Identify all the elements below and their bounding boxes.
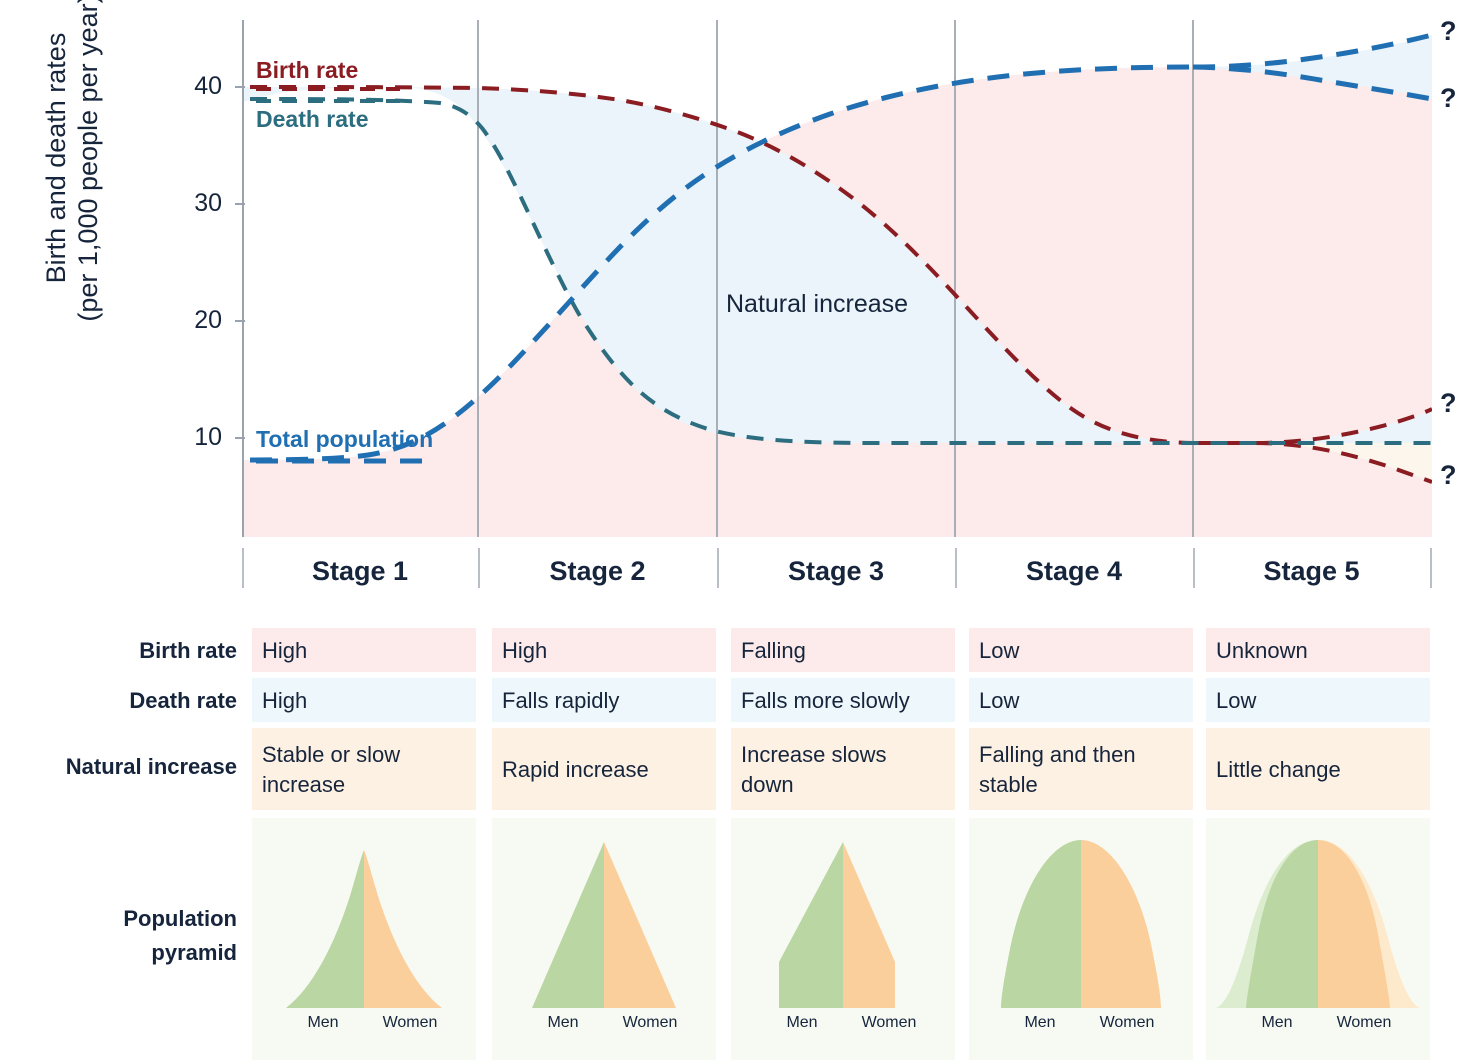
row-label-birth-rate: Birth rate — [0, 634, 237, 668]
cell-natural-increase-stage1: Stable or slow increase — [252, 728, 476, 810]
y-tick-label-30: 30 — [162, 189, 222, 218]
cell-death-rate-stage1: High — [252, 678, 476, 722]
row-label-death-rate: Death rate — [0, 684, 237, 718]
pyramid-men-stage3 — [779, 842, 843, 1008]
cell-natural-increase-stage2: Rapid increase — [492, 728, 716, 810]
y-tick-label-10: 10 — [162, 423, 222, 452]
pyramid-men-label-stage1: Men — [282, 1014, 364, 1032]
cell-natural-increase-stage3: Increase slows down — [731, 728, 955, 810]
question-mark-population-upper: ? — [1440, 16, 1457, 47]
cell-death-rate-stage4: Low — [969, 678, 1193, 722]
cell-birth-rate-stage5: Unknown — [1206, 628, 1430, 672]
pyramid-men-label-stage4: Men — [999, 1014, 1081, 1032]
y-tick-label-40: 40 — [162, 72, 222, 101]
pyramid-cell-stage3: Men Women — [731, 818, 955, 1060]
stage-label-4: Stage 4 — [955, 556, 1193, 587]
question-mark-population-lower: ? — [1440, 83, 1457, 114]
attributes-table: Birth rate Death rate Natural increase P… — [0, 620, 1481, 1060]
cell-death-rate-stage3: Falls more slowly — [731, 678, 955, 722]
pyramid-men-label-stage3: Men — [761, 1014, 843, 1032]
row-label-population-pyramid-line1: Population — [0, 902, 237, 936]
pyramid-men-stage1 — [286, 850, 364, 1008]
row-label-natural-increase: Natural increase — [0, 750, 237, 784]
legend-birth-rate: Birth rate — [256, 57, 358, 84]
question-mark-birth-lower: ? — [1440, 460, 1457, 491]
legend-death-rate: Death rate — [256, 106, 368, 133]
pyramid-cell-stage4: Men Women — [969, 818, 1193, 1060]
natural-increase-annotation: Natural increase — [726, 290, 908, 319]
pyramid-women-label-stage2: Women — [604, 1014, 696, 1032]
demographic-transition-model: Birth and death rates (per 1,000 people … — [0, 0, 1481, 1060]
question-mark-birth-upper: ? — [1440, 388, 1457, 419]
pyramid-cell-stage2: Men Women — [492, 818, 716, 1060]
pyramid-men-label-stage5: Men — [1236, 1014, 1318, 1032]
cell-birth-rate-stage1: High — [252, 628, 476, 672]
pyramid-women-label-stage5: Women — [1318, 1014, 1410, 1032]
cell-birth-rate-stage2: High — [492, 628, 716, 672]
legend-total-population: Total population — [256, 426, 433, 453]
row-label-population-pyramid-line2: pyramid — [0, 936, 237, 970]
stage-label-5: Stage 5 — [1193, 556, 1430, 587]
pyramid-women-label-stage1: Women — [364, 1014, 456, 1032]
pyramid-women-stage1 — [364, 850, 442, 1008]
stage-label-2: Stage 2 — [478, 556, 717, 587]
stage-label-1: Stage 1 — [242, 556, 478, 587]
stage-label-3: Stage 3 — [717, 556, 955, 587]
pyramid-men-label-stage2: Men — [522, 1014, 604, 1032]
y-tick-label-20: 20 — [162, 306, 222, 335]
stage-header-row: Stage 1 Stage 2 Stage 3 Stage 4 Stage 5 — [0, 548, 1481, 612]
cell-birth-rate-stage4: Low — [969, 628, 1193, 672]
cell-death-rate-stage5: Low — [1206, 678, 1430, 722]
pyramid-women-stage2 — [604, 842, 676, 1008]
pyramid-men-stage2 — [532, 842, 604, 1008]
chart-area: Birth and death rates (per 1,000 people … — [0, 0, 1481, 612]
pyramid-women-label-stage4: Women — [1081, 1014, 1173, 1032]
pyramid-women-stage4 — [1081, 840, 1161, 1008]
cell-natural-increase-stage5: Little change — [1206, 728, 1430, 810]
stage-tick-5 — [1430, 548, 1432, 588]
pyramid-cell-stage5: Men Women — [1206, 818, 1430, 1060]
cell-natural-increase-stage4: Falling and then stable — [969, 728, 1193, 810]
pyramid-women-label-stage3: Women — [843, 1014, 935, 1032]
pyramid-cell-stage1: Men Women — [252, 818, 476, 1060]
cell-birth-rate-stage3: Falling — [731, 628, 955, 672]
pyramid-men-stage4 — [1001, 840, 1081, 1008]
cell-death-rate-stage2: Falls rapidly — [492, 678, 716, 722]
pyramid-women-stage3 — [843, 842, 895, 1008]
